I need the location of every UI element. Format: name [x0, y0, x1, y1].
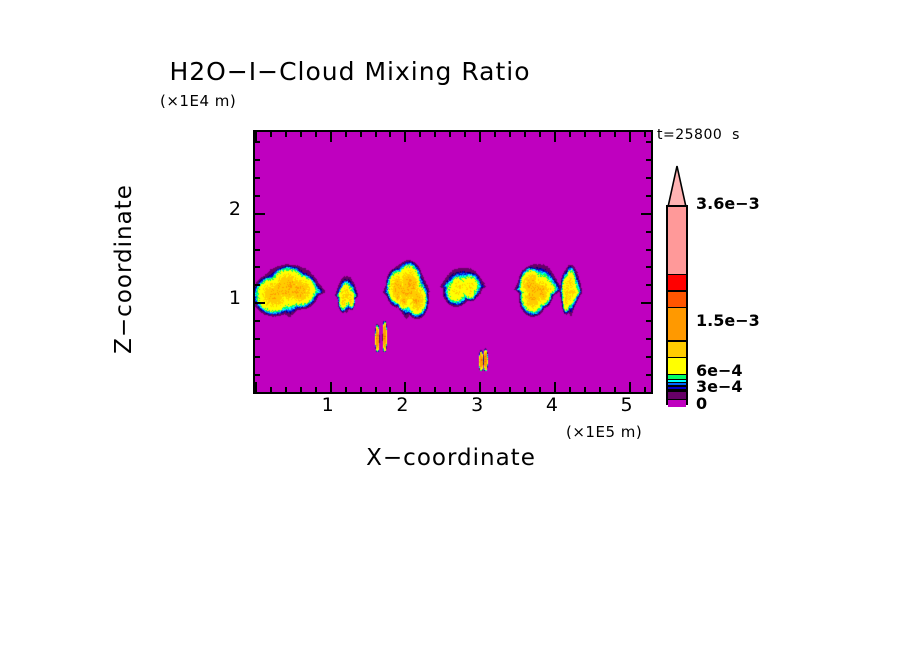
y-axis-unit-label: (×1E4 m): [160, 92, 236, 110]
x-minor-tick: [300, 387, 302, 392]
x-minor-tick: [569, 387, 571, 392]
y-major-tick: [255, 213, 265, 215]
x-minor-tick: [315, 132, 317, 137]
time-annotation: t=25800 s: [657, 127, 740, 143]
x-minor-tick: [614, 387, 616, 392]
y-minor-tick: [255, 195, 260, 197]
x-minor-tick: [524, 132, 526, 137]
x-tick-label: 4: [532, 394, 572, 416]
colorbar-band-divider: [668, 290, 686, 291]
colorbar-band: [668, 357, 686, 374]
colorbar-band: [668, 290, 686, 307]
y-minor-tick: [255, 374, 260, 376]
colorbar-band-divider: [668, 340, 686, 341]
y-minor-tick: [646, 338, 651, 340]
colorbar-tick-label: 1.5e−3: [696, 311, 760, 330]
colorbar-band-divider: [668, 379, 686, 380]
heatmap-canvas: [255, 132, 651, 392]
colorbar-band: [668, 207, 686, 274]
x-major-tick: [554, 132, 556, 142]
y-minor-tick: [255, 266, 260, 268]
x-minor-tick: [449, 387, 451, 392]
x-minor-tick: [419, 387, 421, 392]
x-minor-tick: [494, 387, 496, 392]
x-minor-tick: [509, 132, 511, 137]
x-tick-label: 1: [308, 394, 348, 416]
colorbar-band-divider: [668, 274, 686, 275]
y-minor-tick: [646, 320, 651, 322]
x-minor-tick: [375, 132, 377, 137]
x-minor-tick: [509, 387, 511, 392]
x-minor-tick: [360, 387, 362, 392]
x-minor-tick: [419, 132, 421, 137]
colorbar-band: [668, 340, 686, 357]
x-minor-tick: [584, 387, 586, 392]
x-minor-tick: [644, 132, 646, 137]
y-minor-tick: [646, 159, 651, 161]
y-minor-tick: [646, 249, 651, 251]
y-minor-tick: [255, 231, 260, 233]
colorbar-band-divider: [668, 374, 686, 375]
x-minor-tick: [360, 132, 362, 137]
x-minor-tick: [494, 132, 496, 137]
x-major-tick: [404, 132, 406, 142]
colorbar-band-divider: [668, 399, 686, 400]
y-minor-tick: [255, 141, 260, 143]
x-minor-tick: [539, 132, 541, 137]
x-minor-tick: [375, 387, 377, 392]
y-minor-tick: [255, 356, 260, 358]
x-major-tick: [479, 382, 481, 392]
x-minor-tick: [599, 132, 601, 137]
colorbar-arrow-icon: [666, 165, 688, 207]
x-axis-unit-label: (×1E5 m): [566, 423, 642, 441]
x-minor-tick: [464, 132, 466, 137]
y-major-tick: [255, 392, 265, 394]
x-minor-tick: [270, 132, 272, 137]
y-minor-tick: [646, 266, 651, 268]
x-minor-tick: [434, 132, 436, 137]
x-minor-tick: [449, 132, 451, 137]
y-minor-tick: [646, 374, 651, 376]
colorbar-band-divider: [668, 390, 686, 391]
y-minor-tick: [646, 141, 651, 143]
x-minor-tick: [389, 132, 391, 137]
x-minor-tick: [539, 387, 541, 392]
heatmap-plot-area: [253, 130, 653, 394]
y-major-tick: [641, 302, 651, 304]
x-minor-tick: [345, 387, 347, 392]
y-minor-tick: [255, 249, 260, 251]
y-minor-tick: [646, 195, 651, 197]
x-minor-tick: [584, 132, 586, 137]
x-minor-tick: [434, 387, 436, 392]
y-minor-tick: [255, 284, 260, 286]
figure-canvas: H2O−I−Cloud Mixing Ratio (×1E4 m) (×1E5 …: [0, 0, 904, 654]
colorbar-band-divider: [668, 307, 686, 308]
x-major-tick: [629, 132, 631, 142]
colorbar-tick-label: 0: [696, 394, 707, 413]
x-major-tick: [255, 382, 257, 392]
colorbar-band-divider: [668, 382, 686, 383]
x-minor-tick: [300, 132, 302, 137]
y-minor-tick: [255, 320, 260, 322]
colorbar-bands: [666, 205, 688, 405]
colorbar: [666, 165, 688, 405]
x-minor-tick: [315, 387, 317, 392]
x-minor-tick: [614, 132, 616, 137]
x-major-tick: [554, 382, 556, 392]
colorbar-tick-label: 3.6e−3: [696, 194, 760, 213]
x-minor-tick: [270, 387, 272, 392]
x-major-tick: [330, 132, 332, 142]
page-title: H2O−I−Cloud Mixing Ratio: [0, 57, 700, 86]
y-minor-tick: [646, 177, 651, 179]
x-minor-tick: [464, 387, 466, 392]
y-tick-label: 2: [213, 198, 241, 220]
x-minor-tick: [345, 132, 347, 137]
x-major-tick: [404, 382, 406, 392]
y-minor-tick: [255, 338, 260, 340]
x-tick-label: 2: [382, 394, 422, 416]
colorbar-band: [668, 307, 686, 340]
y-axis-title: Z−coordinate: [111, 139, 137, 399]
y-tick-label: 1: [213, 287, 241, 309]
x-tick-label: 5: [607, 394, 647, 416]
y-minor-tick: [255, 177, 260, 179]
x-minor-tick: [285, 132, 287, 137]
y-major-tick: [255, 302, 265, 304]
x-minor-tick: [524, 387, 526, 392]
x-major-tick: [479, 132, 481, 142]
x-axis-title: X−coordinate: [253, 445, 649, 471]
y-minor-tick: [255, 159, 260, 161]
x-major-tick: [330, 382, 332, 392]
x-minor-tick: [285, 387, 287, 392]
y-minor-tick: [646, 284, 651, 286]
x-tick-label: 3: [457, 394, 497, 416]
x-minor-tick: [569, 132, 571, 137]
colorbar-band-divider: [668, 385, 686, 386]
colorbar-band-divider: [668, 357, 686, 358]
colorbar-band: [668, 274, 686, 291]
x-minor-tick: [599, 387, 601, 392]
y-major-tick: [641, 213, 651, 215]
x-minor-tick: [389, 387, 391, 392]
y-minor-tick: [646, 356, 651, 358]
x-major-tick: [629, 382, 631, 392]
y-minor-tick: [646, 231, 651, 233]
